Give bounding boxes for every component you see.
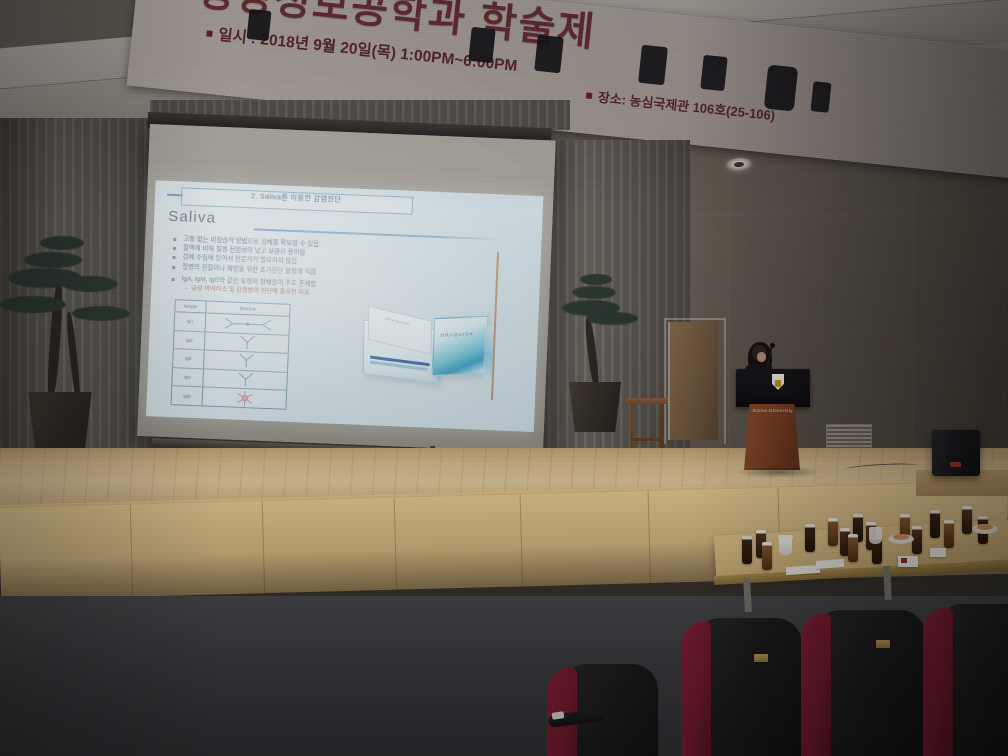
bullet-dot-icon xyxy=(172,266,175,269)
stage-light-icon xyxy=(638,45,668,86)
tent-card-logo-icon xyxy=(901,558,907,563)
stage-light-icon xyxy=(764,65,798,112)
stage-light-icon xyxy=(534,35,564,74)
stage-light-icon xyxy=(246,9,271,41)
table-row: IgM xyxy=(172,387,287,409)
test-kit-lid: ORAQUICK xyxy=(368,306,432,355)
antibody-monomer-icon xyxy=(205,332,289,353)
microphone-icon xyxy=(770,343,775,348)
auditorium-seat[interactable] xyxy=(560,664,658,756)
drink-bottle xyxy=(848,534,858,562)
drink-bottle xyxy=(828,518,838,546)
product-photo: ORAQUICK ORAQUICK xyxy=(361,307,491,404)
slide-title-rule xyxy=(254,228,504,240)
slide-title: Saliva xyxy=(168,208,217,227)
seat-side-panel xyxy=(801,612,831,756)
auditorium-seat[interactable] xyxy=(694,618,802,756)
drink-bottle xyxy=(962,506,972,534)
antibody-isotype-table: Isotype Structure IgA IgD xyxy=(170,299,290,410)
auditorium-seat[interactable] xyxy=(814,610,926,756)
stage-door[interactable] xyxy=(668,322,718,440)
snack-item xyxy=(977,524,993,530)
table-leg xyxy=(743,578,752,612)
antibody-pentamer-icon xyxy=(203,388,287,409)
plant-pot xyxy=(566,382,624,432)
projected-slide: 2. Saliva를 이용한 감염진단 Saliva 고통 없는 비침습적 방법… xyxy=(146,180,543,432)
test-kit-lid-label: ORAQUICK xyxy=(385,317,410,327)
bullet-dot-icon xyxy=(173,238,176,241)
pa-speaker xyxy=(932,430,980,476)
bullet-dot-icon xyxy=(173,247,176,250)
projection-screen: 2. Saliva를 이용한 감염진단 Saliva 고통 없는 비침습적 방법… xyxy=(137,124,555,452)
drink-bottle xyxy=(762,542,772,570)
drink-bottle xyxy=(944,520,954,548)
slide-accent-line xyxy=(491,252,499,400)
stage-light-icon xyxy=(810,81,831,113)
drink-bottle xyxy=(742,536,752,564)
podium-base xyxy=(744,404,800,470)
table-tent-card xyxy=(930,548,946,557)
test-kit-box: ORAQUICK xyxy=(432,316,489,376)
paper-cup xyxy=(779,538,792,555)
stage-light-icon xyxy=(468,27,495,63)
slide-bullet-list: 고통 없는 비침습적 방법으로 검체를 확보할 수 있음 혈액에 비해 질병 전… xyxy=(167,235,399,302)
seat-number-plate xyxy=(754,654,768,662)
antibody-monomer-icon xyxy=(204,351,288,372)
auditorium-seat[interactable] xyxy=(936,604,1008,756)
antibody-dimer-icon xyxy=(206,313,290,334)
jbl-logo-icon xyxy=(950,462,961,467)
presenter-face xyxy=(757,352,766,362)
test-kit-brand-label: ORAQUICK xyxy=(440,331,474,338)
bullet-dot-icon xyxy=(172,278,175,281)
seat-number-plate xyxy=(876,640,890,648)
wall-air-vent xyxy=(826,424,872,450)
stage-light-icon xyxy=(700,55,727,91)
snack-item xyxy=(893,534,909,540)
seat-side-panel xyxy=(923,606,953,756)
plant-pot xyxy=(24,392,96,454)
podium-shadow xyxy=(736,466,822,478)
drink-bottle xyxy=(930,510,940,538)
cup-lid xyxy=(778,535,793,539)
drink-bottle xyxy=(805,524,815,552)
podium-institution-label: Korea University xyxy=(744,408,802,413)
bullet-dot-icon xyxy=(172,256,175,259)
conference-hall-photo: 생명정보공학과 학술제 일시 : 2018년 9월 20일(목) 1:00PM~… xyxy=(0,0,1008,756)
antibody-monomer-icon xyxy=(203,369,287,390)
crest-emblem xyxy=(775,380,781,387)
test-kit-tray: ORAQUICK xyxy=(363,319,439,383)
paper-cup xyxy=(869,527,882,544)
seat-side-panel xyxy=(681,620,711,756)
